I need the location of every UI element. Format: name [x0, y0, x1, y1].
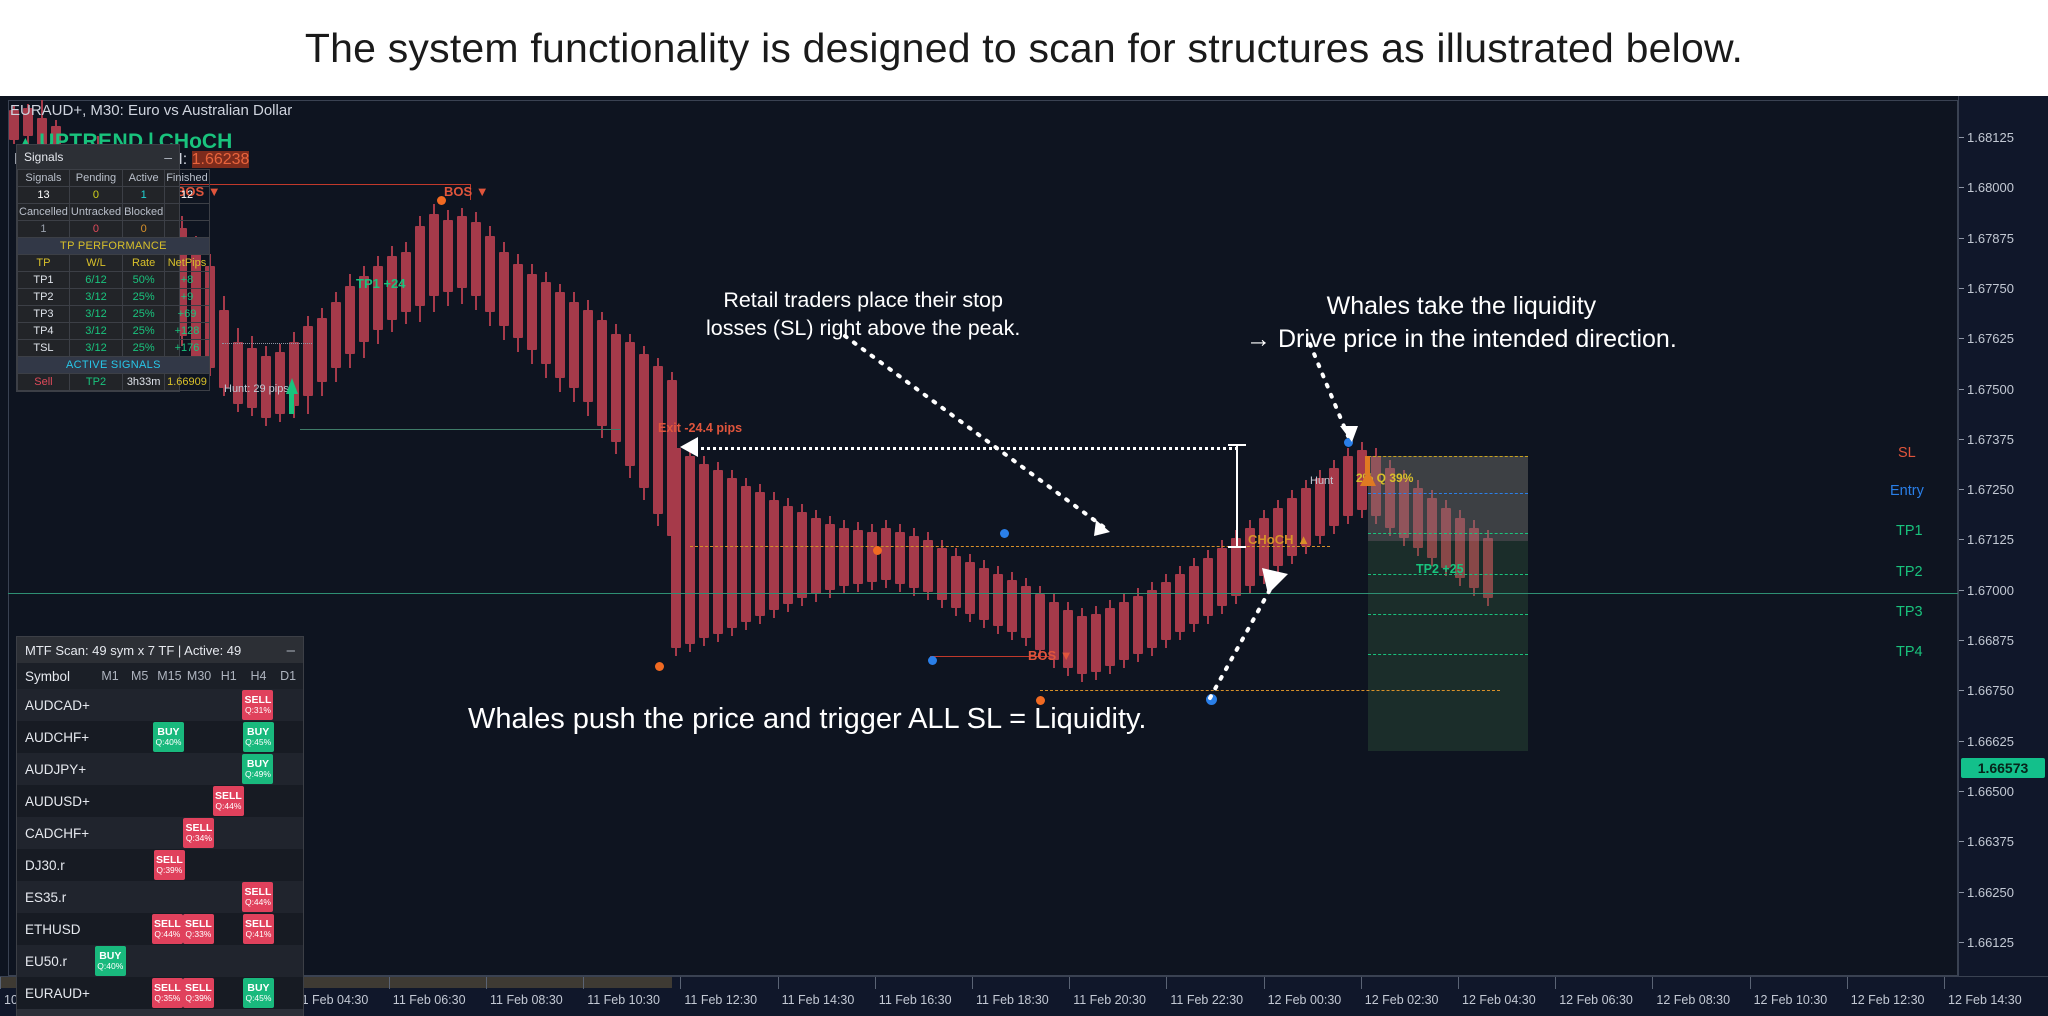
- time-tick: 11 Feb 14:30: [782, 993, 855, 1007]
- mtf-signal-badge[interactable]: BUYQ:45%: [243, 978, 274, 1008]
- mtf-signal-badge[interactable]: BUYQ:49%: [242, 754, 273, 784]
- candlestick: [923, 532, 933, 600]
- mtf-cell: BUYQ:40%: [153, 722, 184, 752]
- candlestick: [1175, 566, 1185, 640]
- val-cancelled: 1: [18, 221, 70, 238]
- tp-wl: 3/12: [69, 289, 122, 306]
- candlestick: [555, 284, 565, 392]
- candlestick: [457, 208, 467, 304]
- time-tick-separator: [1166, 977, 1167, 989]
- tp-name: TP3: [18, 306, 70, 323]
- col-untracked: Untracked: [69, 204, 122, 221]
- candlestick: [811, 510, 821, 602]
- candlestick: [485, 226, 495, 326]
- tp3-level-line: [1368, 614, 1528, 615]
- mtf-cell: SELLQ:44%: [242, 882, 273, 912]
- mtf-signal-badge[interactable]: BUYQ:40%: [153, 722, 184, 752]
- mtf-cell: SELLQ:35%: [152, 978, 183, 1008]
- val-pending: 0: [69, 187, 122, 204]
- mtf-signal-badge[interactable]: SELLQ:44%: [152, 914, 183, 944]
- tp-rate: 25%: [123, 306, 165, 323]
- candlestick: [373, 256, 383, 344]
- candlestick: [797, 504, 807, 606]
- range-line-low: [300, 429, 620, 430]
- price-tick: 1.67750: [1959, 281, 2014, 296]
- col-finished: Finished: [165, 170, 210, 187]
- candlestick: [429, 204, 439, 312]
- candlestick: [951, 548, 961, 616]
- price-tick: 1.66750: [1959, 683, 2014, 698]
- signals-panel[interactable]: Signals – Signals Pending Active Finishe…: [16, 144, 180, 392]
- signals-panel-titlebar[interactable]: Signals –: [17, 145, 179, 169]
- mtf-symbol: ETHUSD: [17, 922, 94, 937]
- exit-dotted-line: [690, 447, 1238, 450]
- table-row: 1 0 0: [18, 221, 210, 238]
- mtf-cell: BUYQ:45%: [243, 978, 274, 1008]
- active-signals-band: ACTIVE SIGNALS: [18, 357, 210, 374]
- col-cancelled: Cancelled: [18, 204, 70, 221]
- price-tick: 1.66625: [1959, 734, 2014, 749]
- candlestick: [783, 498, 793, 612]
- tp-rate: 25%: [123, 340, 165, 357]
- minimize-icon[interactable]: –: [287, 646, 295, 655]
- sl-level-label: SL: [1898, 445, 1916, 461]
- whales-callout-arrow: [1310, 344, 1348, 436]
- time-tick-separator: [1264, 977, 1265, 989]
- candlestick: [1203, 550, 1213, 624]
- mtf-signal-badge[interactable]: SELLQ:44%: [242, 882, 273, 912]
- mtf-col-m5: M5: [125, 669, 155, 683]
- swing-dot: [437, 196, 446, 205]
- orange-dashed-low: [1040, 690, 1500, 691]
- mtf-symbol: ES35.r: [17, 890, 95, 905]
- mtf-scan-panel[interactable]: MTF Scan: 49 sym x 7 TF | Active: 49 – S…: [16, 636, 304, 1016]
- mtf-signal-badge[interactable]: BUYQ:45%: [243, 722, 274, 752]
- table-row: TP43/1225%+128: [18, 323, 210, 340]
- val-active: 1: [123, 187, 165, 204]
- tp-name: TP1: [18, 272, 70, 289]
- candlestick: [699, 456, 709, 646]
- candlestick: [317, 308, 327, 396]
- mtf-cell: SELLQ:33%: [183, 914, 214, 944]
- whales-callout-line2: → Drive price in the intended direction.: [1246, 323, 1677, 356]
- sl-level-line: [1368, 456, 1528, 457]
- candlestick: [331, 292, 341, 382]
- time-tick: 12 Feb 04:30: [1462, 993, 1536, 1007]
- candlestick: [639, 346, 649, 500]
- price-tick: 1.67875: [1959, 231, 2014, 246]
- time-tick: 12 Feb 14:30: [1948, 993, 2022, 1007]
- price-tick: 1.66875: [1959, 633, 2014, 648]
- mtf-cell: BUYQ:40%: [95, 946, 126, 976]
- mtf-row[interactable]: ES35.rSELLQ:44%: [17, 881, 303, 913]
- tp-netpips: +128: [165, 323, 210, 340]
- tp2-level-line: [1368, 574, 1528, 575]
- candlestick: [713, 462, 723, 642]
- entry-level-label: Entry: [1890, 483, 1924, 499]
- table-row: TP W/L Rate NetPips: [18, 255, 210, 272]
- time-tick: 11 Feb 20:30: [1073, 993, 1146, 1007]
- tp-rate: 50%: [123, 272, 165, 289]
- col-active: Active: [123, 170, 165, 187]
- table-row: ACTIVE SIGNALS: [18, 357, 210, 374]
- page-title: The system functionality is designed to …: [0, 0, 2048, 96]
- price-tick: 1.68125: [1959, 130, 2014, 145]
- time-tick: 12 Feb 00:30: [1268, 993, 1342, 1007]
- active-time: 3h33m: [123, 374, 165, 391]
- stop-loss-zone: [1368, 456, 1528, 541]
- badge-quality: Q:44%: [245, 898, 271, 907]
- active-side: Sell: [18, 374, 70, 391]
- mtf-symbol: AUDCHF+: [17, 730, 94, 745]
- retail-callout-line1: Retail traders place their stop: [706, 286, 1020, 314]
- price-tick: 1.66375: [1959, 834, 2014, 849]
- signals-panel-title: Signals: [24, 150, 63, 164]
- trading-chart[interactable]: EURAUD+, M30: Euro vs Australian Dollar …: [0, 96, 2048, 1016]
- mtf-signal-badge[interactable]: SELLQ:31%: [242, 690, 273, 720]
- time-tick: 11 Feb 16:30: [879, 993, 952, 1007]
- mtf-cell: SELLQ:44%: [152, 914, 183, 944]
- mtf-signal-badge[interactable]: SELLQ:35%: [152, 978, 183, 1008]
- val-signals: 13: [18, 187, 70, 204]
- minimize-icon[interactable]: –: [164, 153, 172, 161]
- candlestick: [685, 448, 695, 652]
- mtf-row[interactable]: ETHUSDSELLQ:44%SELLQ:33%SELLQ:41%: [17, 913, 303, 945]
- candlestick: [1119, 594, 1129, 668]
- price-tick: 1.68000: [1959, 180, 2014, 195]
- mtf-col-symbol: Symbol: [17, 669, 95, 684]
- bos-label-mid: BOS ▼: [444, 184, 489, 199]
- time-tick: 11 Feb 06:30: [393, 993, 466, 1007]
- time-tick-separator: [1847, 977, 1848, 989]
- active-tp: TP2: [69, 374, 122, 391]
- col-signals: Signals: [18, 170, 70, 187]
- time-tick: 11 Feb 22:30: [1170, 993, 1243, 1007]
- swing-dot: [873, 546, 882, 555]
- candlestick: [741, 478, 751, 630]
- col-blocked: Blocked: [123, 204, 165, 221]
- price-tick: 1.67000: [1959, 583, 2014, 598]
- candlestick: [1161, 574, 1171, 648]
- mtf-cell: SELLQ:31%: [242, 690, 273, 720]
- candlestick: [825, 516, 835, 598]
- price-tick: 1.67625: [1959, 331, 2014, 346]
- badge-quality: Q:39%: [156, 866, 182, 875]
- mtf-signal-badge[interactable]: SELLQ:44%: [213, 786, 244, 816]
- mtf-cell: SELLQ:41%: [243, 914, 274, 944]
- candlestick: [1259, 510, 1269, 584]
- badge-quality: Q:40%: [97, 962, 123, 971]
- tp4-level-label: TP4: [1896, 644, 1923, 660]
- val-blank: [165, 221, 210, 238]
- hunt-dotted-left: [222, 343, 312, 344]
- current-price-badge: 1.66573: [1961, 758, 2045, 778]
- time-tick-separator: [486, 977, 487, 989]
- tp1-hit-label: TP1 +24: [356, 276, 406, 291]
- time-tick-separator: [1458, 977, 1459, 989]
- tp-performance-rows: TP16/1250%+8TP23/1225%+9TP33/1225%+69TP4…: [18, 272, 210, 357]
- tp1-level-line: [1368, 533, 1528, 534]
- choch-label-right: CHoCH ▲: [1248, 532, 1310, 547]
- price-tick: 1.67250: [1959, 482, 2014, 497]
- price-tick: 1.67375: [1959, 432, 2014, 447]
- candlestick: [1329, 460, 1339, 534]
- hunt-label-left: Hunt: 29 pips: [224, 383, 289, 395]
- price-tick: 1.66250: [1959, 885, 2014, 900]
- candlestick: [1063, 602, 1073, 676]
- bos-label-low: BOS ▼: [1028, 648, 1073, 663]
- time-tick-separator: [1750, 977, 1751, 989]
- candlestick: [1091, 606, 1101, 680]
- badge-quality: Q:49%: [245, 770, 271, 779]
- tp-rate: 25%: [123, 289, 165, 306]
- measure-bracket: [1236, 444, 1238, 547]
- mtf-col-m30: M30: [184, 669, 214, 683]
- mtf-cell: SELLQ:39%: [183, 978, 214, 1008]
- col-tp: TP: [18, 255, 70, 272]
- badge-quality: Q:34%: [186, 834, 212, 843]
- retail-callout-line2: losses (SL) right above the peak.: [706, 314, 1020, 342]
- mtf-signal-badge[interactable]: SELLQ:41%: [243, 914, 274, 944]
- table-row: Cancelled Untracked Blocked: [18, 204, 210, 221]
- table-row: TP16/1250%+8: [18, 272, 210, 289]
- tp-netpips: +176: [165, 340, 210, 357]
- candlestick: [1021, 578, 1031, 646]
- table-row: TP PERFORMANCE: [18, 238, 210, 255]
- mtf-pagination[interactable]: < Prev Page 1/3 Next >: [17, 1009, 303, 1016]
- candlestick: [1217, 540, 1227, 614]
- col-rate: Rate: [123, 255, 165, 272]
- col-wl: W/L: [69, 255, 122, 272]
- mtf-row[interactable]: EU50.rBUYQ:40%: [17, 945, 303, 977]
- active-price: 1.66909: [165, 374, 210, 391]
- screenshot-root: The system functionality is designed to …: [0, 0, 2048, 1016]
- whales-callout-line1: Whales take the liquidity: [1246, 290, 1677, 323]
- candlestick: [839, 520, 849, 594]
- mtf-signal-badge[interactable]: SELLQ:39%: [154, 850, 185, 880]
- badge-quality: Q:33%: [185, 930, 211, 939]
- mtf-row[interactable]: AUDUSD+SELLQ:44%: [17, 785, 303, 817]
- price-tick: 1.67500: [1959, 382, 2014, 397]
- candlestick: [247, 336, 257, 416]
- mtf-col-m1: M1: [95, 669, 125, 683]
- swing-dot: [655, 662, 664, 671]
- candlestick: [219, 296, 229, 396]
- tp3-level-label: TP3: [1896, 604, 1923, 620]
- time-tick-separator: [1652, 977, 1653, 989]
- price-tick: 1.66125: [1959, 935, 2014, 950]
- time-tick: 12 Feb 10:30: [1754, 993, 1828, 1007]
- candlestick: [867, 524, 877, 590]
- candlestick: [415, 216, 425, 322]
- candlestick: [653, 358, 663, 526]
- candlestick: [881, 520, 891, 588]
- time-tick: 11 Feb 18:30: [976, 993, 1049, 1007]
- mtf-panel-titlebar[interactable]: MTF Scan: 49 sym x 7 TF | Active: 49 –: [17, 637, 303, 663]
- mtf-symbol: AUDCAD+: [17, 698, 95, 713]
- mtf-signal-badge[interactable]: SELLQ:34%: [183, 818, 214, 848]
- mtf-row[interactable]: AUDJPY+BUYQ:49%: [17, 753, 303, 785]
- col-blank: [165, 204, 210, 221]
- badge-quality: Q:39%: [185, 994, 211, 1003]
- candlestick: [937, 540, 947, 608]
- time-tick-separator: [389, 977, 390, 989]
- table-row: TP23/1225%+9: [18, 289, 210, 306]
- candlestick: [345, 274, 355, 368]
- mtf-col-m15: M15: [155, 669, 185, 683]
- candlestick: [611, 324, 621, 454]
- mtf-signal-badge[interactable]: SELLQ:33%: [183, 914, 214, 944]
- tp-netpips: +69: [165, 306, 210, 323]
- candlestick: [233, 328, 243, 412]
- mtf-symbol: AUDUSD+: [17, 794, 95, 809]
- mtf-column-headers: SymbolM1M5M15M30H1H4D1: [17, 663, 303, 689]
- candlestick: [965, 554, 975, 622]
- candlestick: [1007, 572, 1017, 640]
- badge-quality: Q:41%: [245, 930, 271, 939]
- price-axis[interactable]: 1.681251.680001.678751.677501.676251.675…: [1958, 96, 2048, 976]
- tp-performance-band: TP PERFORMANCE: [18, 238, 210, 255]
- table-row: Sell TP2 3h33m 1.66909: [18, 374, 210, 391]
- equilibrium-line: [8, 593, 1958, 594]
- candlestick: [597, 312, 607, 438]
- candlestick: [499, 242, 509, 340]
- time-tick-separator: [680, 977, 681, 989]
- retail-callout: Retail traders place their stop losses (…: [706, 286, 1020, 343]
- time-tick: 12 Feb 06:30: [1559, 993, 1633, 1007]
- time-tick: 12 Feb 12:30: [1851, 993, 1925, 1007]
- candlestick: [513, 254, 523, 352]
- mtf-col-d1: D1: [273, 669, 303, 683]
- candlestick: [727, 470, 737, 636]
- mtf-col-h4: H4: [244, 669, 274, 683]
- mtf-symbol: EU50.r: [17, 954, 95, 969]
- signals-summary-table: Signals Pending Active Finished 13 0 1 1…: [17, 169, 210, 391]
- swing-dot-blue: [1000, 529, 1009, 538]
- price-tick: 1.66500: [1959, 784, 2014, 799]
- candlestick: [895, 524, 905, 592]
- measure-bracket-top: [1228, 444, 1246, 446]
- tp-wl: 3/12: [69, 323, 122, 340]
- mtf-cell: SELLQ:39%: [154, 850, 185, 880]
- mtf-col-h1: H1: [214, 669, 244, 683]
- tp1-level-label: TP1: [1896, 523, 1923, 539]
- badge-quality: Q:45%: [245, 994, 271, 1003]
- candlestick: [303, 316, 313, 414]
- time-tick-separator: [1944, 977, 1945, 989]
- candlestick: [853, 522, 863, 592]
- quality-percent-label: 2% Q 39%: [1356, 471, 1413, 485]
- badge-quality: Q:45%: [245, 738, 271, 747]
- time-axis[interactable]: 10 Feb 202611 Feb 00:3011 Feb 02:3011 Fe…: [0, 976, 2048, 1016]
- mtf-cell: BUYQ:45%: [243, 722, 274, 752]
- swing-dot-blue: [928, 656, 937, 665]
- mtf-row[interactable]: EURAUD+SELLQ:35%SELLQ:39%BUYQ:45%: [17, 977, 303, 1009]
- mtf-row[interactable]: CADCHF+SELLQ:34%: [17, 817, 303, 849]
- symbol-header: EURAUD+, M30: Euro vs Australian Dollar: [10, 102, 292, 119]
- val-untracked: 0: [69, 221, 122, 238]
- mtf-signal-badge[interactable]: SELLQ:39%: [183, 978, 214, 1008]
- candlestick: [1133, 588, 1143, 662]
- mtf-row[interactable]: DJ30.rSELLQ:39%: [17, 849, 303, 881]
- col-netpips: NetPips: [165, 255, 210, 272]
- time-tick-separator: [972, 977, 973, 989]
- choch-value: 1.66238: [192, 151, 250, 168]
- tp4-level-line: [1368, 654, 1528, 655]
- exit-label: Exit -24.4 pips: [658, 421, 742, 435]
- mtf-signal-badge[interactable]: BUYQ:40%: [95, 946, 126, 976]
- time-tick-separator: [1361, 977, 1362, 989]
- mtf-cell: SELLQ:44%: [213, 786, 244, 816]
- whales-callout: Whales take the liquidity → Drive price …: [1246, 290, 1677, 356]
- time-tick: 11 Feb 10:30: [587, 993, 660, 1007]
- tp-wl: 3/12: [69, 306, 122, 323]
- time-tick-separator: [778, 977, 779, 989]
- measure-bracket-bottom: [1228, 546, 1246, 548]
- time-tick: 12 Feb 02:30: [1365, 993, 1439, 1007]
- val-finished: 12: [165, 187, 210, 204]
- candlestick: [769, 492, 779, 618]
- mtf-symbol: AUDJPY+: [17, 762, 95, 777]
- retail-arrow-head: [1094, 520, 1110, 536]
- time-tick: 12 Feb 08:30: [1656, 993, 1730, 1007]
- mtf-row[interactable]: AUDCAD+SELLQ:31%: [17, 689, 303, 721]
- tp-wl: 6/12: [69, 272, 122, 289]
- badge-quality: Q:44%: [215, 802, 241, 811]
- time-tick: 11 Feb 08:30: [490, 993, 563, 1007]
- candlestick: [755, 484, 765, 624]
- candlestick: [569, 292, 579, 402]
- retail-callout-arrow: [845, 336, 1105, 528]
- candlestick: [1189, 558, 1199, 632]
- candlestick: [1105, 600, 1115, 674]
- tp-netpips: +9: [165, 289, 210, 306]
- swing-dot-blue: [1344, 438, 1353, 447]
- candlestick: [909, 528, 919, 596]
- candlestick: [443, 210, 453, 306]
- candlestick: [993, 566, 1003, 634]
- candlestick: [625, 334, 635, 478]
- badge-quality: Q:40%: [155, 738, 181, 747]
- tp2-level-label: TP2: [1896, 564, 1923, 580]
- mtf-symbol: EURAUD+: [17, 986, 94, 1001]
- tp-rate: 25%: [123, 323, 165, 340]
- time-tick: 11 Feb 12:30: [684, 993, 757, 1007]
- bottom-callout: Whales push the price and trigger ALL SL…: [468, 700, 1146, 738]
- price-marker-dot: [1206, 694, 1217, 705]
- tp-netpips: +8: [165, 272, 210, 289]
- mtf-panel-title: MTF Scan: 49 sym x 7 TF | Active: 49: [25, 643, 241, 658]
- table-row: TSL3/1225%+176: [18, 340, 210, 357]
- time-tick-separator: [875, 977, 876, 989]
- candlestick: [1287, 490, 1297, 564]
- time-tick-separator: [0, 977, 1, 989]
- candlestick: [671, 442, 681, 656]
- mtf-row[interactable]: AUDCHF+BUYQ:40%BUYQ:45%: [17, 721, 303, 753]
- candlestick: [541, 272, 551, 378]
- mtf-cell: BUYQ:49%: [242, 754, 273, 784]
- candlestick: [979, 560, 989, 628]
- mtf-cell: SELLQ:34%: [183, 818, 214, 848]
- table-row: TP33/1225%+69: [18, 306, 210, 323]
- time-tick-separator: [1555, 977, 1556, 989]
- time-tick-separator: [1069, 977, 1070, 989]
- entry-level-line: [1368, 493, 1528, 494]
- badge-quality: Q:35%: [154, 994, 180, 1003]
- candlestick: [527, 264, 537, 364]
- candlestick: [583, 300, 593, 416]
- table-row: 13 0 1 12: [18, 187, 210, 204]
